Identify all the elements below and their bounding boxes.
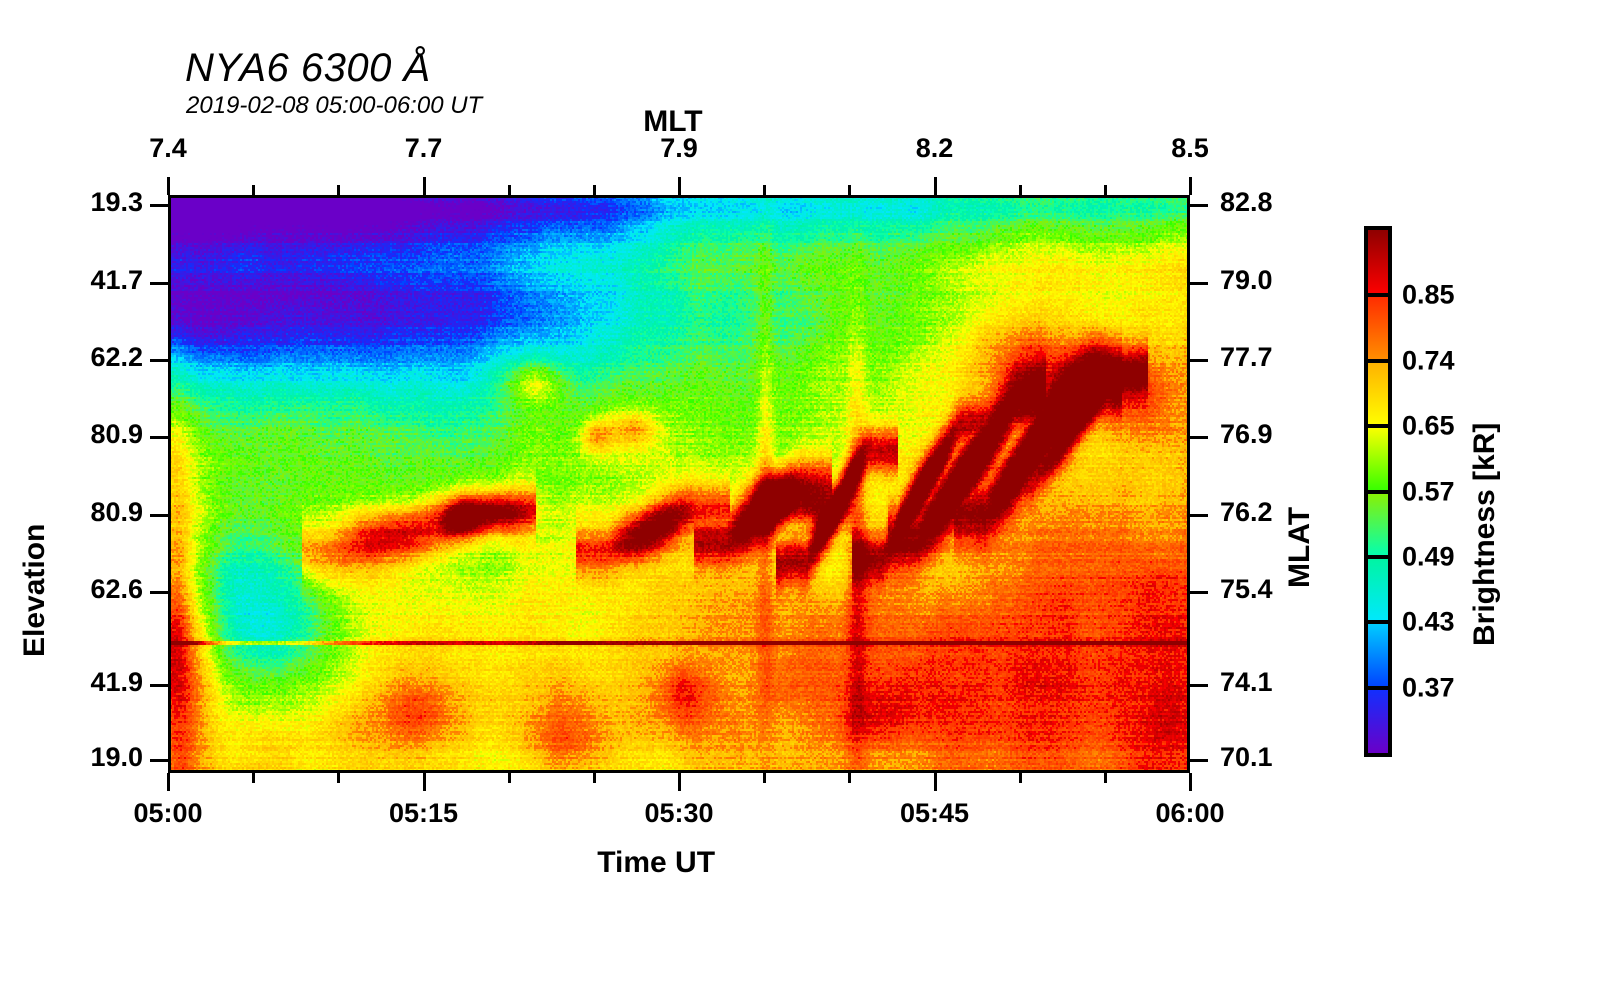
axis-tick (678, 177, 681, 195)
elevation-tick-label-2: 62.2 (0, 342, 143, 373)
plot-subtitle: 2019-02-08 05:00-06:00 UT (186, 92, 482, 120)
axis-tick (508, 185, 511, 195)
axis-tick (1190, 514, 1208, 517)
mlt-tick-label-0: 7.4 (126, 133, 210, 164)
elevation-tick-label-0: 19.3 (0, 187, 143, 218)
elevation-tick-label-3: 80.9 (0, 419, 143, 450)
axis-tick (1190, 759, 1208, 762)
axis-tick (150, 514, 168, 517)
mlat-tick-label-6: 74.1 (1220, 667, 1273, 698)
elevation-tick-label-7: 19.0 (0, 742, 143, 773)
colorbar-tick-label-3: 0.57 (1402, 476, 1455, 507)
axis-label-time: Time UT (597, 846, 715, 880)
colorbar-label: Brightness [kR] (1468, 422, 1502, 645)
mlt-tick-label-3: 8.2 (893, 133, 977, 164)
axis-tick (1190, 436, 1208, 439)
axis-tick (1104, 773, 1107, 783)
colorbar-band-5 (1368, 557, 1388, 622)
colorbar-separator (1364, 359, 1392, 363)
axis-tick (337, 773, 340, 783)
mlat-tick-label-7: 70.1 (1220, 742, 1273, 773)
colorbar-tick-label-0: 0.85 (1402, 280, 1455, 311)
axis-tick (150, 204, 168, 207)
colorbar-separator (1364, 490, 1392, 494)
colorbar-tick-label-2: 0.65 (1402, 411, 1455, 442)
elevation-tick-label-4: 80.9 (0, 497, 143, 528)
time-tick-label-3: 05:45 (875, 798, 995, 829)
colorbar-tick-label-6: 0.37 (1402, 672, 1455, 703)
time-tick-label-2: 05:30 (619, 798, 739, 829)
colorbar-band-2 (1368, 361, 1388, 426)
axis-tick (167, 177, 170, 195)
colorbar-band-7 (1368, 688, 1388, 753)
axis-tick (934, 773, 937, 791)
axis-tick (150, 591, 168, 594)
axis-tick (150, 436, 168, 439)
time-tick-label-0: 05:00 (108, 798, 228, 829)
axis-tick (150, 684, 168, 687)
axis-tick (1190, 591, 1208, 594)
colorbar-separator (1364, 424, 1392, 428)
mlat-tick-label-1: 79.0 (1220, 265, 1273, 296)
axis-tick (593, 185, 596, 195)
mlt-tick-label-2: 7.9 (637, 133, 721, 164)
axis-tick (1190, 282, 1208, 285)
axis-tick (252, 185, 255, 195)
colorbar-separator (1364, 686, 1392, 690)
axis-tick (252, 773, 255, 783)
mlat-tick-label-2: 77.7 (1220, 342, 1273, 373)
colorbar-separator (1364, 293, 1392, 297)
axis-tick (1190, 684, 1208, 687)
axis-tick (423, 177, 426, 195)
axis-tick (423, 773, 426, 791)
axis-tick (763, 185, 766, 195)
colorbar-separator (1364, 620, 1392, 624)
axis-tick (337, 185, 340, 195)
axis-tick (150, 759, 168, 762)
colorbar-separator (1364, 555, 1392, 559)
axis-tick (150, 282, 168, 285)
axis-tick (150, 359, 168, 362)
axis-tick (1019, 185, 1022, 195)
mlt-tick-label-1: 7.7 (382, 133, 466, 164)
axis-tick (1104, 185, 1107, 195)
axis-label-mlat: MLAT (1283, 507, 1317, 588)
colorbar-tick-label-1: 0.74 (1402, 345, 1455, 376)
axis-tick (1190, 359, 1208, 362)
colorbar-band-0 (1368, 230, 1388, 295)
axis-tick (678, 773, 681, 791)
keogram-image (168, 195, 1190, 773)
axis-tick (593, 773, 596, 783)
axis-tick (508, 773, 511, 783)
colorbar-band-4 (1368, 492, 1388, 557)
elevation-tick-label-5: 62.6 (0, 574, 143, 605)
mlat-tick-label-4: 76.2 (1220, 497, 1273, 528)
colorbar-band-3 (1368, 426, 1388, 491)
axis-tick (763, 773, 766, 783)
axis-tick (934, 177, 937, 195)
axis-tick (848, 185, 851, 195)
elevation-tick-label-1: 41.7 (0, 265, 143, 296)
axis-tick (1189, 773, 1192, 791)
mlat-tick-label-0: 82.8 (1220, 187, 1273, 218)
colorbar-band-6 (1368, 622, 1388, 687)
time-tick-label-4: 06:00 (1130, 798, 1250, 829)
axis-tick (167, 773, 170, 791)
colorbar-tick-label-5: 0.43 (1402, 607, 1455, 638)
plot-title: NYA6 6300 Å (185, 46, 431, 91)
axis-tick (1019, 773, 1022, 783)
time-tick-label-1: 05:15 (364, 798, 484, 829)
mlt-tick-label-4: 8.5 (1148, 133, 1232, 164)
colorbar-band-1 (1368, 295, 1388, 360)
elevation-tick-label-6: 41.9 (0, 667, 143, 698)
colorbar-tick-label-4: 0.49 (1402, 541, 1455, 572)
axis-tick (848, 773, 851, 783)
mlat-tick-label-3: 76.9 (1220, 419, 1273, 450)
axis-tick (1189, 177, 1192, 195)
mlat-tick-label-5: 75.4 (1220, 574, 1273, 605)
axis-tick (1190, 204, 1208, 207)
